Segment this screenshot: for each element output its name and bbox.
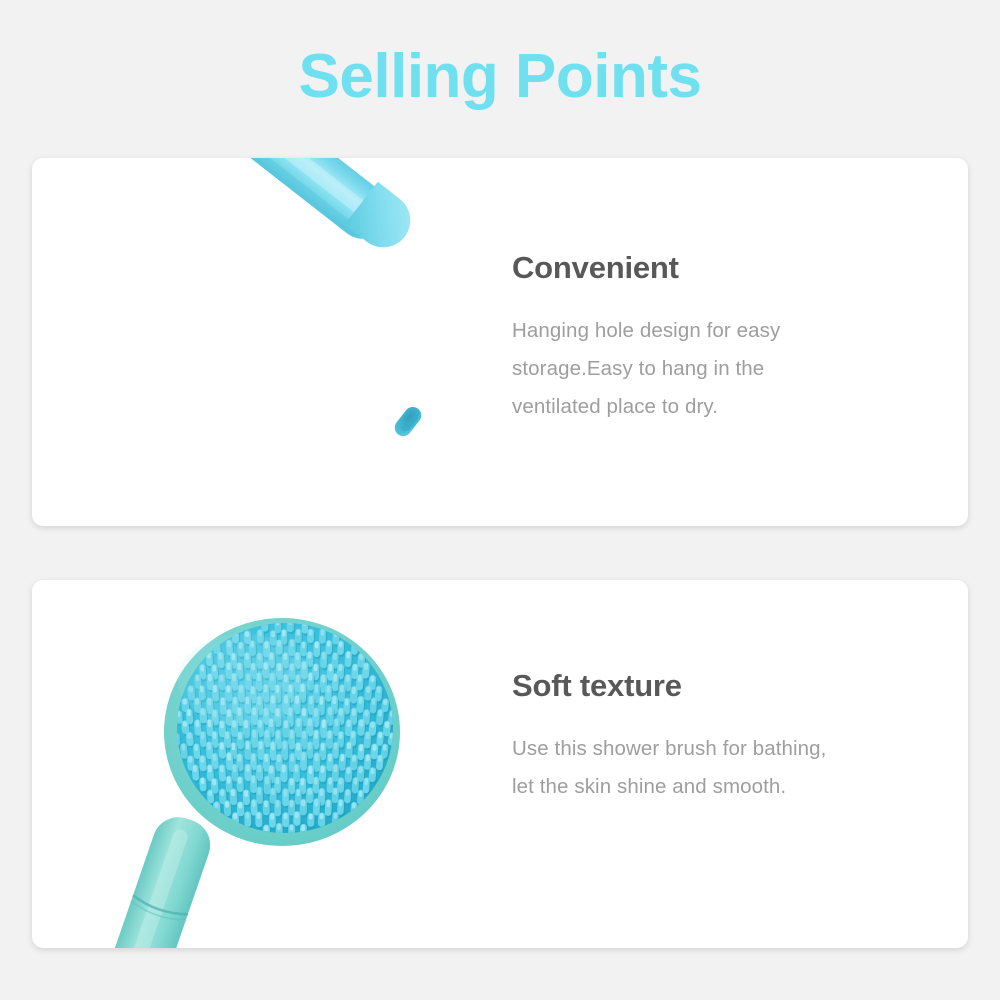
card-body-line: Use this shower brush for bathing, bbox=[512, 730, 942, 768]
silicone-brush-handle-photo bbox=[32, 158, 512, 526]
selling-points-page: Selling Points bbox=[0, 0, 1000, 1000]
card-body-line: ventilated place to dry. bbox=[512, 388, 942, 426]
selling-point-card-soft-texture: Soft texture Use this shower brush for b… bbox=[32, 580, 968, 948]
card-text-block: Convenient Hanging hole design for easy … bbox=[512, 250, 942, 426]
card-heading: Soft texture bbox=[512, 668, 942, 704]
card-body-line: storage.Easy to hang in the bbox=[512, 350, 942, 388]
card-text-block: Soft texture Use this shower brush for b… bbox=[512, 668, 942, 806]
card-body-line: Hanging hole design for easy bbox=[512, 312, 942, 350]
card-body: Hanging hole design for easy storage.Eas… bbox=[512, 312, 942, 426]
card-body-line: let the skin shine and smooth. bbox=[512, 768, 942, 806]
card-heading: Convenient bbox=[512, 250, 942, 286]
card-body: Use this shower brush for bathing, let t… bbox=[512, 730, 942, 806]
silicone-brush-head-photo bbox=[32, 580, 512, 948]
page-title: Selling Points bbox=[0, 44, 1000, 109]
selling-point-card-convenient: Convenient Hanging hole design for easy … bbox=[32, 158, 968, 526]
